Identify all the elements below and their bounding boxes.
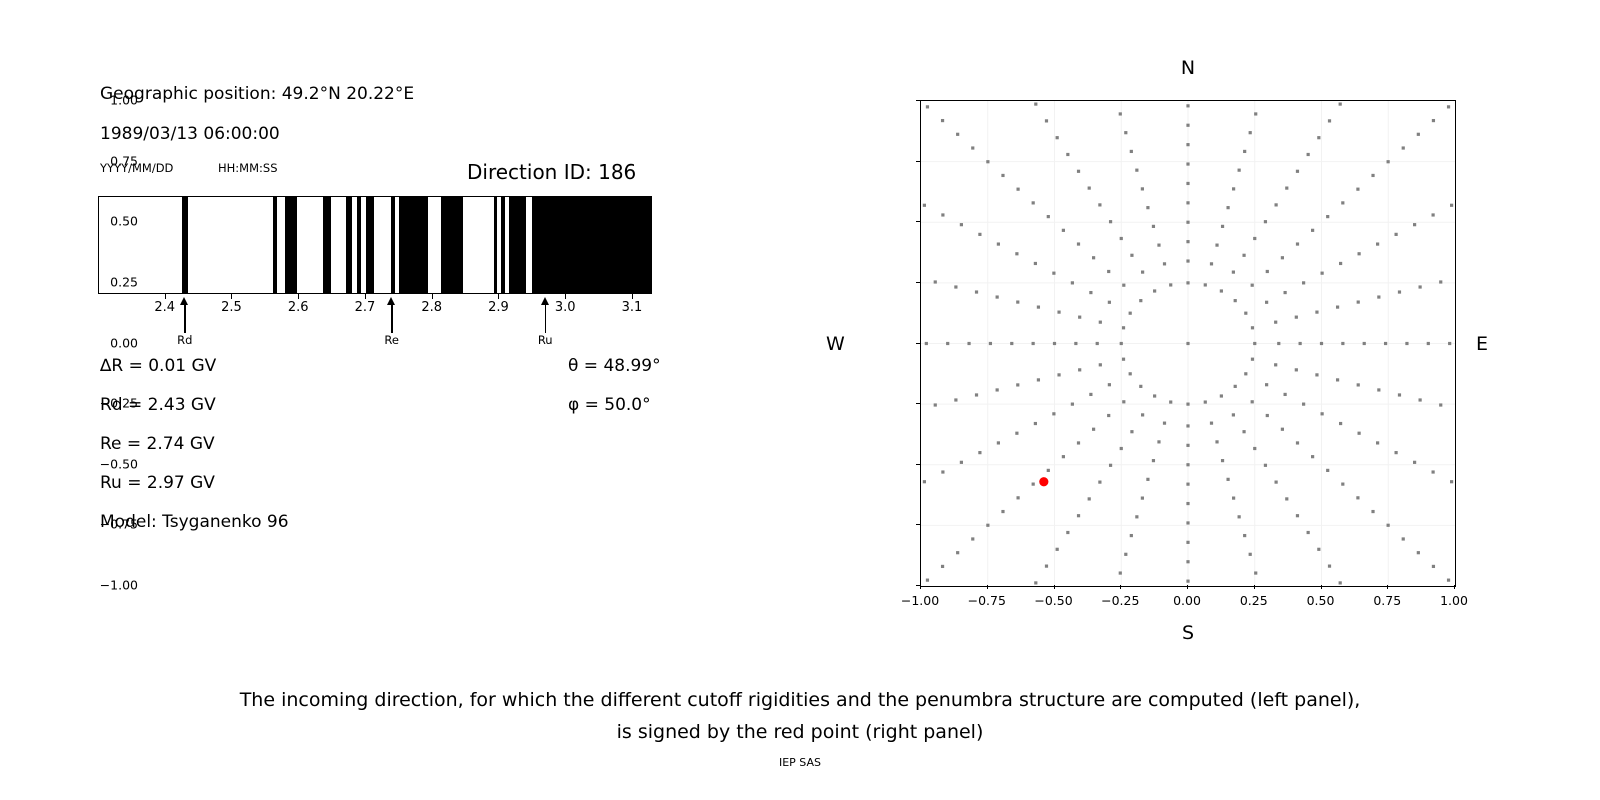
sky-dot — [1285, 497, 1288, 500]
sky-dot — [1034, 581, 1037, 584]
sky-dot — [1169, 283, 1172, 286]
sky-dot — [1266, 414, 1269, 417]
sky-dot — [1328, 565, 1331, 568]
sky-dot — [978, 451, 981, 454]
sky-dot — [1092, 428, 1095, 431]
sky-dot — [997, 242, 1000, 245]
sky-dot — [1244, 372, 1247, 375]
sky-dot — [1078, 316, 1081, 319]
sky-dot — [1251, 358, 1254, 361]
x-axis-tick — [1120, 585, 1121, 589]
sky-dot — [1037, 305, 1040, 308]
sky-dot — [1302, 403, 1305, 406]
sky-dot — [967, 342, 970, 345]
sky-dot — [1419, 398, 1422, 401]
sky-dot — [1056, 136, 1059, 139]
sky-dot — [1371, 174, 1374, 177]
sky-dot — [1321, 412, 1324, 415]
sky-dot — [1089, 393, 1092, 396]
sky-dot — [1129, 372, 1132, 375]
sky-dot — [1377, 388, 1380, 391]
sky-dot — [1232, 270, 1235, 273]
sky-dot — [1339, 581, 1342, 584]
sky-dot — [1220, 289, 1223, 292]
sky-dot — [1358, 252, 1361, 255]
sky-dot — [1139, 299, 1142, 302]
x-axis-tick-label: 0.50 — [1307, 593, 1335, 608]
sky-dot — [1015, 432, 1018, 435]
x-axis-tick — [1321, 585, 1322, 589]
sky-dot — [1326, 469, 1329, 472]
sky-dot — [1045, 565, 1048, 568]
sky-dot — [1328, 119, 1331, 122]
sky-dot — [1357, 383, 1360, 386]
sky-dot — [971, 146, 974, 149]
footer-credit: IEP SAS — [0, 756, 1600, 769]
compass-south-label: S — [1182, 622, 1194, 644]
sky-dot — [1066, 153, 1069, 156]
sky-dot — [1122, 326, 1125, 329]
sky-dot — [1253, 447, 1256, 450]
sky-dot — [1356, 188, 1359, 191]
sky-dot — [1186, 521, 1189, 524]
sky-dot — [1317, 136, 1320, 139]
sky-dot — [1130, 254, 1133, 257]
sky-dot — [1295, 368, 1298, 371]
sky-dot — [1135, 169, 1138, 172]
y-axis-tick — [916, 100, 920, 101]
sky-dot — [1242, 254, 1245, 257]
sky-dot — [1186, 240, 1189, 243]
sky-dot — [1066, 531, 1069, 534]
sky-dot — [1129, 312, 1132, 315]
sky-dot — [1141, 270, 1144, 273]
sky-dot — [1296, 170, 1299, 173]
sky-dot — [1427, 342, 1430, 345]
sky-dot — [996, 295, 999, 298]
sky-dot — [1186, 463, 1189, 466]
sky-dot — [1265, 301, 1268, 304]
sky-dot — [956, 551, 959, 554]
sky-dot — [1371, 510, 1374, 513]
sky-dot — [1210, 262, 1213, 265]
x-axis-tick-label: 0.00 — [1173, 593, 1201, 608]
sky-dot — [934, 403, 937, 406]
sky-dot — [1088, 186, 1091, 189]
sky-dot — [923, 480, 926, 483]
sky-dot — [1251, 284, 1254, 287]
sky-dot — [941, 565, 944, 568]
sky-dot — [1432, 565, 1435, 568]
sky-dot — [1057, 373, 1060, 376]
sky-dot — [1357, 300, 1360, 303]
sky-dot — [1163, 262, 1166, 265]
caption-line-2: is signed by the red point (right panel) — [0, 716, 1600, 748]
sky-dot — [1417, 133, 1420, 136]
sky-dot — [1057, 311, 1060, 314]
sky-dot — [1232, 413, 1235, 416]
sky-dot — [1339, 102, 1342, 105]
sky-dot — [1238, 515, 1241, 518]
sky-dot — [1186, 560, 1189, 563]
sky-dot — [1387, 160, 1390, 163]
sky-dot — [1274, 363, 1277, 366]
x-axis-tick-label: −1.00 — [901, 593, 939, 608]
sky-dot — [934, 280, 937, 283]
y-axis-tick — [916, 464, 920, 465]
figure-caption: The incoming direction, for which the di… — [0, 684, 1600, 748]
sky-dot — [1186, 502, 1189, 505]
sky-dot — [1281, 428, 1284, 431]
sky-dot — [1157, 440, 1160, 443]
sky-dot — [1071, 281, 1074, 284]
sky-dot — [1152, 459, 1155, 462]
sky-dot — [1275, 481, 1278, 484]
sky-dot — [1109, 464, 1112, 467]
sky-dot — [1034, 262, 1037, 265]
sky-dot — [1122, 400, 1125, 403]
compass-west-label: W — [826, 333, 845, 355]
sky-dot — [1244, 312, 1247, 315]
sky-dot — [1226, 478, 1229, 481]
sky-dot — [1037, 378, 1040, 381]
sky-dot — [1186, 221, 1189, 224]
sky-dot — [1341, 342, 1344, 345]
sky-dot — [1146, 478, 1149, 481]
sky-dot — [1253, 237, 1256, 240]
sky-dot — [1419, 285, 1422, 288]
sky-dot — [1376, 441, 1379, 444]
x-axis-tick-label: −0.75 — [968, 593, 1006, 608]
sky-dot — [996, 388, 999, 391]
sky-dot — [926, 579, 929, 582]
sky-dot — [1321, 272, 1324, 275]
sky-dot — [1052, 412, 1055, 415]
y-axis-tick-label: 0.75 — [110, 153, 138, 168]
sky-dot — [1032, 201, 1035, 204]
sky-dot — [941, 470, 944, 473]
x-axis-tick-label: 1.00 — [1440, 593, 1468, 608]
selected-direction-point[interactable] — [1039, 477, 1048, 486]
sky-dot — [1186, 124, 1189, 127]
sky-dot — [926, 105, 929, 108]
sky-dot — [1226, 206, 1229, 209]
x-axis-tick — [920, 585, 921, 589]
sky-dot — [1221, 225, 1224, 228]
sky-dot — [1432, 119, 1435, 122]
sky-dot — [1320, 342, 1323, 345]
sky-dot — [1016, 383, 1019, 386]
sky-dot — [925, 342, 928, 345]
sky-dot — [1341, 201, 1344, 204]
sky-dot — [1296, 441, 1299, 444]
sky-dot — [1439, 403, 1442, 406]
sky-dot — [1405, 342, 1408, 345]
sky-dot — [1210, 422, 1213, 425]
sky-dot — [1186, 281, 1189, 284]
sky-dot — [1120, 237, 1123, 240]
sky-dot — [1099, 363, 1102, 366]
x-axis-tick — [1254, 585, 1255, 589]
sky-dot — [1169, 400, 1172, 403]
y-axis-tick-label: −0.50 — [100, 456, 138, 471]
sky-dot — [956, 133, 959, 136]
sky-dot — [1215, 440, 1218, 443]
sky-dot — [1387, 524, 1390, 527]
caption-line-1: The incoming direction, for which the di… — [0, 684, 1600, 716]
sky-dot — [1077, 441, 1080, 444]
y-axis-tick — [916, 282, 920, 283]
x-axis-tick — [987, 585, 988, 589]
sky-dot — [1299, 342, 1302, 345]
sky-dot — [1377, 295, 1380, 298]
sky-dot — [1243, 534, 1246, 537]
sky-dot — [1047, 215, 1050, 218]
sky-dot — [986, 160, 989, 163]
sky-dot — [1120, 342, 1123, 345]
x-axis-tick — [1187, 585, 1188, 589]
y-axis-tick — [916, 221, 920, 222]
sky-dot — [1413, 223, 1416, 226]
sky-dot — [1045, 119, 1048, 122]
sky-dot — [1398, 290, 1401, 293]
sky-dot — [1302, 281, 1305, 284]
sky-dot — [1089, 291, 1092, 294]
sky-dot — [1295, 316, 1298, 319]
sky-dot — [1234, 385, 1237, 388]
sky-dot — [1186, 444, 1189, 447]
sky-dot — [1157, 244, 1160, 247]
sky-dot — [1130, 534, 1133, 537]
sky-dot — [1395, 451, 1398, 454]
sky-dot — [1077, 242, 1080, 245]
sky-dot — [1015, 252, 1018, 255]
sky-dot — [1311, 229, 1314, 232]
sky-dot — [1402, 146, 1405, 149]
sky-dot — [1186, 483, 1189, 486]
sky-dot — [1242, 430, 1245, 433]
sky-dot — [1274, 321, 1277, 324]
sky-dot — [1232, 187, 1235, 190]
sky-dot — [1204, 400, 1207, 403]
sky-dot — [1336, 305, 1339, 308]
sky-dot — [1186, 342, 1189, 345]
sky-dot — [1220, 394, 1223, 397]
sky-map-axes — [920, 100, 1456, 587]
sky-dot — [1122, 358, 1125, 361]
compass-east-label: E — [1476, 333, 1488, 355]
sky-dot — [1417, 551, 1420, 554]
sky-dot — [1341, 483, 1344, 486]
sky-dot — [1285, 186, 1288, 189]
y-axis-tick-label: 0.00 — [110, 335, 138, 350]
sky-dot — [1254, 112, 1257, 115]
sky-dot — [1243, 150, 1246, 153]
sky-dot — [1098, 203, 1101, 206]
sky-dot — [1016, 496, 1019, 499]
sky-dot — [1266, 270, 1269, 273]
y-axis-tick — [916, 403, 920, 404]
y-axis-tick-label: −1.00 — [100, 578, 138, 593]
sky-dot — [1062, 455, 1065, 458]
sky-dot — [1277, 342, 1280, 345]
sky-dot — [1326, 215, 1329, 218]
sky-dot — [1186, 580, 1189, 583]
sky-dot — [1315, 311, 1318, 314]
sky-dot — [1186, 143, 1189, 146]
y-axis-tick-label: 1.00 — [110, 93, 138, 108]
y-axis-tick-label: 0.50 — [110, 214, 138, 229]
y-axis-tick-label: −0.75 — [100, 517, 138, 532]
sky-dot — [1163, 422, 1166, 425]
sky-dot — [1047, 469, 1050, 472]
sky-dot — [941, 213, 944, 216]
sky-dot — [1448, 342, 1451, 345]
sky-dot — [1432, 470, 1435, 473]
y-axis-tick-label: 0.25 — [110, 274, 138, 289]
sky-dot — [1281, 256, 1284, 259]
sky-dot — [1307, 531, 1310, 534]
sky-dot — [1363, 342, 1366, 345]
sky-dot — [1034, 102, 1037, 105]
sky-dot — [1447, 579, 1450, 582]
sky-dot — [1336, 378, 1339, 381]
y-axis-tick-label: −0.25 — [100, 396, 138, 411]
sky-dot — [1016, 300, 1019, 303]
sky-dot — [1107, 270, 1110, 273]
sky-dot — [1284, 393, 1287, 396]
sky-dot — [1119, 112, 1122, 115]
sky-dot — [1010, 342, 1013, 345]
sky-dot — [1249, 553, 1252, 556]
sky-dot — [1275, 203, 1278, 206]
sky-dot — [1253, 342, 1256, 345]
sky-dot — [1221, 459, 1224, 462]
sky-dot — [1296, 242, 1299, 245]
sky-dot — [1108, 383, 1111, 386]
sky-dot — [1016, 188, 1019, 191]
sky-dot — [975, 393, 978, 396]
sky-dot — [1139, 385, 1142, 388]
sky-dot — [1249, 131, 1252, 134]
x-axis-tick — [1054, 585, 1055, 589]
sky-dot — [1447, 105, 1450, 108]
sky-dot — [1315, 373, 1318, 376]
sky-dot — [1413, 461, 1416, 464]
sky-dot — [1092, 256, 1095, 259]
sky-dot — [1186, 201, 1189, 204]
sky-dot — [971, 537, 974, 540]
compass-north-label: N — [1181, 57, 1195, 79]
sky-dot — [954, 398, 957, 401]
sky-map-plot — [921, 101, 1455, 586]
x-axis-tick — [1387, 585, 1388, 589]
sky-dot — [1398, 393, 1401, 396]
sky-dot — [1153, 289, 1156, 292]
sky-dot — [1186, 104, 1189, 107]
sky-dot — [978, 233, 981, 236]
sky-dot — [1296, 514, 1299, 517]
sky-dot — [1152, 225, 1155, 228]
sky-dot — [960, 223, 963, 226]
sky-dot — [1307, 153, 1310, 156]
sky-dot — [1120, 447, 1123, 450]
sky-dot — [1141, 413, 1144, 416]
sky-dot — [1317, 548, 1320, 551]
sky-dot — [1077, 170, 1080, 173]
sky-dot — [1186, 424, 1189, 427]
sky-dot — [1186, 541, 1189, 544]
sky-dot — [1186, 403, 1189, 406]
sky-dot — [1311, 455, 1314, 458]
sky-dot — [1450, 480, 1453, 483]
y-axis-tick — [916, 524, 920, 525]
sky-dot — [1186, 182, 1189, 185]
x-axis-tick — [1454, 585, 1455, 589]
sky-dot — [1356, 496, 1359, 499]
sky-dot — [1001, 510, 1004, 513]
sky-dot — [1032, 342, 1035, 345]
sky-dot — [1109, 220, 1112, 223]
sky-dot — [1141, 187, 1144, 190]
y-axis-tick — [916, 343, 920, 344]
sky-dot — [954, 285, 957, 288]
sky-dot — [1284, 291, 1287, 294]
x-axis-tick-label: 0.75 — [1373, 593, 1401, 608]
sky-dot — [1384, 342, 1387, 345]
x-axis-tick-label: −0.25 — [1101, 593, 1139, 608]
sky-dot — [1395, 233, 1398, 236]
sky-dot — [1108, 301, 1111, 304]
sky-dot — [1001, 174, 1004, 177]
sky-dot — [1232, 496, 1235, 499]
sky-dot — [1130, 150, 1133, 153]
sky-dot — [1124, 131, 1127, 134]
sky-dot — [946, 342, 949, 345]
sky-dot — [1215, 244, 1218, 247]
sky-dot — [1078, 368, 1081, 371]
sky-dot — [1204, 283, 1207, 286]
sky-dot — [1264, 464, 1267, 467]
sky-dot — [1056, 548, 1059, 551]
sky-dot — [1153, 394, 1156, 397]
x-axis-tick-label: 0.25 — [1240, 593, 1268, 608]
sky-dot — [1053, 342, 1056, 345]
sky-dot — [1141, 496, 1144, 499]
sky-dot — [1096, 342, 1099, 345]
sky-dot — [1077, 514, 1080, 517]
sky-dot — [1122, 284, 1125, 287]
sky-dot — [1124, 553, 1127, 556]
sky-map-panel: N S W E −1.00−0.75−0.50−0.250.000.250.50… — [0, 0, 1600, 660]
sky-dot — [1254, 571, 1257, 574]
sky-dot — [989, 342, 992, 345]
sky-dot — [923, 204, 926, 207]
sky-dot — [1099, 321, 1102, 324]
sky-dot — [960, 461, 963, 464]
sky-dot — [986, 524, 989, 527]
sky-dot — [997, 441, 1000, 444]
sky-dot — [975, 290, 978, 293]
sky-dot — [1439, 280, 1442, 283]
x-axis-tick-label: −0.50 — [1034, 593, 1072, 608]
sky-dot — [1146, 206, 1149, 209]
sky-dot — [1034, 422, 1037, 425]
sky-dot — [1052, 272, 1055, 275]
sky-dot — [1264, 220, 1267, 223]
sky-dot — [1238, 169, 1241, 172]
sky-dot — [1186, 162, 1189, 165]
